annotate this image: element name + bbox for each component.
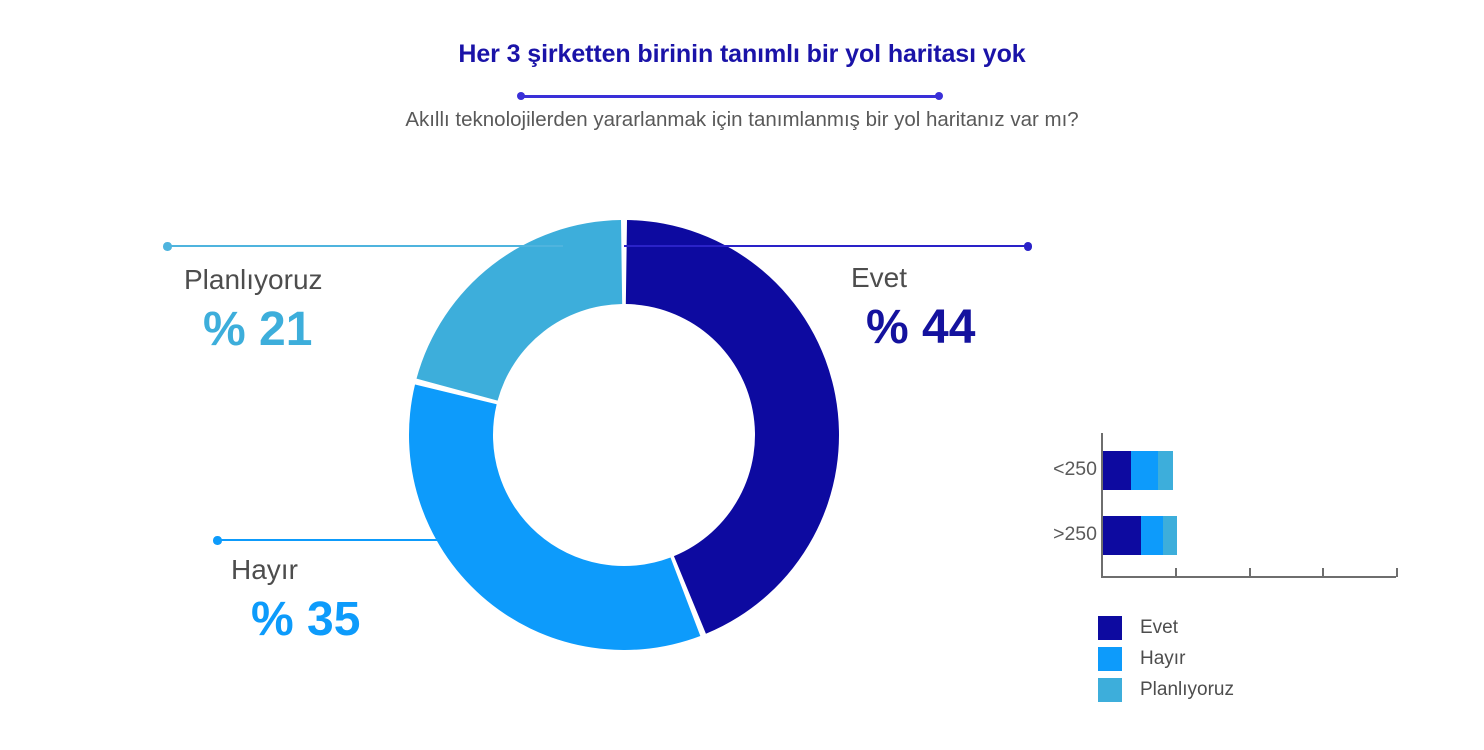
page-subtitle: Akıllı teknolojilerden yararlanmak için … [0,108,1484,132]
divider-rule [521,95,939,98]
bar-chart-category-label: >250 [1053,523,1097,546]
bar-segment-planlıyoruz[interactable] [1158,451,1173,490]
bar-chart-x-tick [1396,568,1398,577]
chart-legend: EvetHayırPlanlıyoruz [1098,612,1328,705]
callout-value-evet: % 44 [866,300,975,355]
callout-value-planliyoruz: % 21 [203,302,312,357]
donut-chart [409,220,839,650]
divider-dot-right [935,92,943,100]
legend-label: Hayır [1140,648,1185,670]
legend-item-hayır[interactable]: Hayır [1098,643,1328,674]
callout-label-planliyoruz: Planlıyoruz [184,264,323,296]
stacked-bar-chart: <250 >250 [1025,425,1415,590]
leader-line-evet [624,242,1032,251]
donut-slice-hayır[interactable] [409,384,700,650]
legend-label: Evet [1140,617,1178,639]
donut-chart-svg [409,220,839,650]
callout-label-hayir: Hayır [231,554,298,586]
title-divider [517,92,943,101]
legend-swatch-icon [1098,678,1122,702]
leader-line-hayir [213,536,463,545]
legend-item-planlıyoruz[interactable]: Planlıyoruz [1098,674,1328,705]
page-title: Her 3 şirketten birinin tanımlı bir yol … [0,40,1484,69]
leader-rule-planliyoruz [169,245,563,247]
legend-item-evet[interactable]: Evet [1098,612,1328,643]
bar-segment-evet[interactable] [1103,516,1141,555]
bar-chart-x-tick [1101,568,1103,577]
legend-label: Planlıyoruz [1140,679,1234,701]
bar-segment-planlıyoruz[interactable] [1163,516,1176,555]
leader-rule-hayir [219,539,463,541]
bar-segment-hayır[interactable] [1141,516,1163,555]
bar-chart-category-label: <250 [1053,458,1097,481]
legend-swatch-icon [1098,647,1122,671]
bar-segment-hayır[interactable] [1131,451,1158,490]
bar-chart-x-tick [1249,568,1251,577]
callout-label-evet: Evet [851,262,907,294]
bar-chart-x-tick [1175,568,1177,577]
bar-chart-bar [1103,451,1173,490]
donut-slice-group [409,220,839,650]
callout-value-hayir: % 35 [251,592,360,647]
leader-dot-evet [1024,242,1033,251]
bar-chart-bar [1103,516,1177,555]
bar-segment-evet[interactable] [1103,451,1131,490]
chart-header: Her 3 şirketten birinin tanımlı bir yol … [0,0,1484,150]
leader-line-planliyoruz [163,242,563,251]
leader-rule-evet [624,245,1026,247]
legend-swatch-icon [1098,616,1122,640]
bar-chart-x-tick [1322,568,1324,577]
